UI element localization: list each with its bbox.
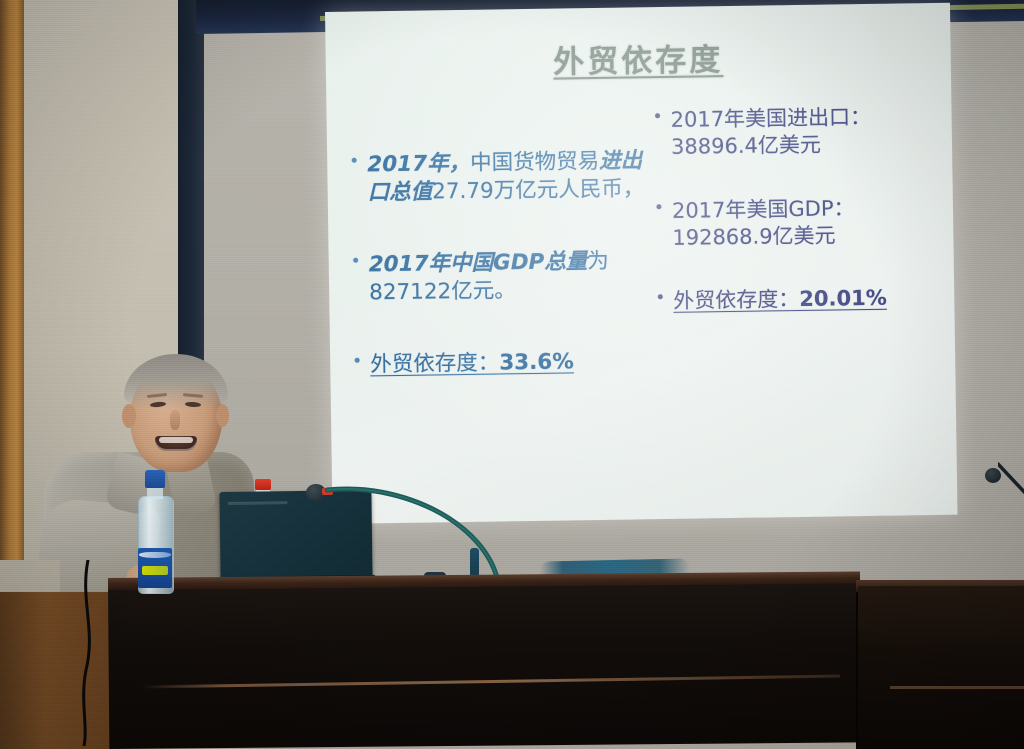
- wall-wood-trim: [0, 0, 24, 640]
- red-bottle-cap: [255, 479, 271, 490]
- bullet-seg-amount: 27.79万亿元人民币，: [432, 176, 644, 204]
- laptop-reflection: [228, 501, 288, 505]
- speaker-nose: [170, 410, 180, 430]
- bullet-china-trade-dependency: 外贸依存度：33.6%: [348, 347, 648, 379]
- water-bottle-label-wave: [139, 552, 171, 558]
- desk-upright-object: [470, 548, 479, 578]
- microphone-red-band: [322, 488, 333, 495]
- hanging-cable: [74, 560, 104, 746]
- water-bottle-neck: [147, 487, 163, 499]
- dependency-label-cn: 外贸依存度：: [370, 350, 499, 377]
- water-bottle: [137, 470, 173, 592]
- slide-title: 外贸依存度: [325, 31, 951, 85]
- water-bottle-label-accent: [142, 566, 168, 575]
- bullet-china-trade-value: 2017年，中国货物贸易进出口总值27.79万亿元人民币，: [345, 147, 646, 207]
- bullet-seg-year: 2017年，: [367, 151, 470, 178]
- bullet-us-trade-dependency: 外贸依存度：20.01%: [651, 284, 951, 316]
- bullet-seg-gdp-label: 2017年中国GDP总量: [369, 249, 588, 277]
- us-gdp-line2: 192868.9亿美元: [672, 223, 836, 249]
- speaker-teeth: [159, 437, 193, 443]
- slide-spacer-2: [348, 313, 648, 351]
- wall-microphone-arm: [998, 460, 1024, 502]
- slide-spacer-1: [346, 213, 646, 251]
- water-bottle-cap: [145, 470, 165, 488]
- bullet-seg-goods: 中国货物贸易: [470, 149, 599, 176]
- projected-slide: 外贸依存度 2017年，中国货物贸易进出口总值27.79万亿元人民币， 2017…: [325, 3, 958, 524]
- dependency-value-cn: 33.6%: [499, 349, 574, 375]
- podium-right-groove: [890, 686, 1024, 689]
- lecture-photo-scene: 外贸依存度 2017年，中国货物贸易进出口总值27.79万亿元人民币， 2017…: [0, 0, 1024, 749]
- podium-front-panel: [108, 583, 861, 749]
- slide-title-text: 外贸依存度: [553, 42, 724, 81]
- speaker-hair: [124, 354, 228, 410]
- bullet-china-gdp: 2017年中国GDP总量为827122亿元。: [347, 247, 648, 307]
- us-trade-line1: 2017年美国进出口：: [670, 105, 871, 132]
- podium-right-panel: [858, 586, 1024, 749]
- us-trade-line2: 38896.4亿美元: [671, 133, 821, 159]
- speaker-ear-left: [122, 404, 136, 428]
- us-gdp-line1: 2017年美国GDP：: [672, 196, 855, 223]
- slide-right-column: 2017年美国进出口： 38896.4亿美元 2017年美国GDP： 19286…: [648, 103, 951, 326]
- speaker-ear-right: [216, 404, 229, 427]
- laptop-screen[interactable]: [219, 490, 372, 580]
- bullet-us-trade-value: 2017年美国进出口： 38896.4亿美元: [648, 103, 949, 162]
- dependency-label-us: 外贸依存度：: [673, 287, 799, 313]
- dependency-value-us: 20.01%: [799, 286, 887, 311]
- slide-left-column: 2017年，中国货物贸易进出口总值27.79万亿元人民币， 2017年中国GDP…: [345, 147, 648, 389]
- bullet-us-gdp: 2017年美国GDP： 192868.9亿美元: [650, 193, 951, 252]
